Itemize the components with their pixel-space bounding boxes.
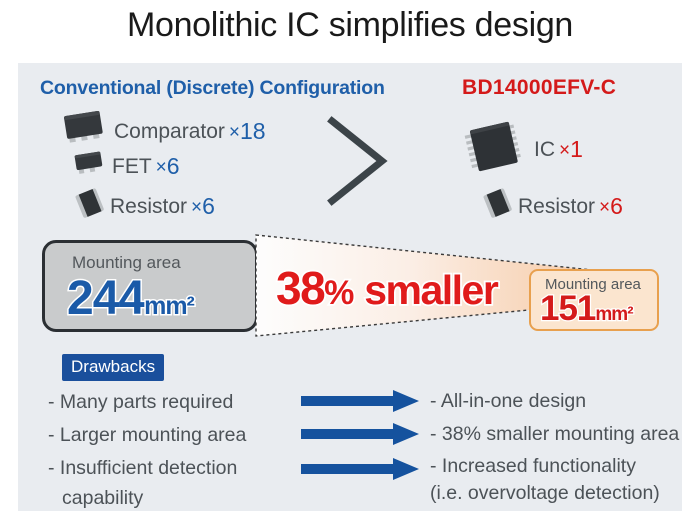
list-item-comparator: Comparator ×18: [58, 109, 266, 154]
benefit-item-1: - All-in-one design: [430, 390, 586, 413]
right-column-heading: BD14000EFV-C: [462, 76, 616, 100]
arrow-right-icon: [301, 390, 419, 417]
count-value: 1: [570, 136, 583, 162]
component-count: ×18: [229, 118, 266, 145]
multiply-symbol: ×: [191, 197, 202, 218]
reduction-number: 38: [276, 262, 324, 314]
component-count: ×6: [156, 153, 180, 180]
component-label: FET: [112, 155, 152, 179]
component-count: ×6: [191, 193, 215, 220]
ic-package-icon: [458, 118, 534, 181]
list-item-ic: IC ×1: [458, 118, 583, 181]
count-value: 6: [610, 193, 623, 219]
reduction-word: smaller: [364, 267, 497, 313]
area-number: 151: [540, 289, 595, 328]
benefit-item-2: - 38% smaller mounting area: [430, 423, 679, 446]
component-count: ×6: [599, 193, 623, 220]
mounting-area-label: Mounting area: [72, 253, 181, 273]
resistor-chip-icon: [478, 187, 518, 226]
multiply-symbol: ×: [229, 122, 240, 143]
count-value: 18: [240, 118, 266, 144]
multiply-symbol: ×: [559, 140, 570, 161]
area-unit: mm²: [595, 304, 632, 325]
drawback-item-1: - Many parts required: [48, 391, 233, 414]
drawback-item-2: - Larger mounting area: [48, 424, 246, 447]
page-title: Monolithic IC simplifies design: [0, 6, 700, 45]
mounting-area-box-conventional: Mounting area 244mm²: [42, 240, 258, 332]
multiply-symbol: ×: [599, 197, 610, 218]
count-value: 6: [167, 153, 180, 179]
mounting-area-value: 244mm²: [67, 271, 194, 326]
component-label: Comparator: [114, 120, 225, 144]
resistor-chip-icon: [70, 187, 110, 226]
drawback-item-3-cont: capability: [62, 487, 143, 510]
area-unit: mm²: [144, 292, 194, 320]
list-item-fet: FET ×6: [70, 149, 180, 184]
comparison-panel: Conventional (Discrete) Configuration BD…: [18, 63, 682, 511]
list-item-resistor-left: Resistor ×6: [70, 187, 215, 226]
arrow-right-icon: [301, 458, 419, 485]
list-item-resistor-right: Resistor ×6: [478, 187, 623, 226]
arrow-right-icon: [301, 423, 419, 450]
mounting-area-value: 151mm²: [540, 289, 633, 329]
drawbacks-badge: Drawbacks: [62, 354, 164, 381]
multiply-symbol: ×: [156, 157, 167, 178]
component-label: Resistor: [518, 195, 595, 219]
reduction-callout: 38% smaller: [276, 261, 497, 315]
percent-symbol: %: [324, 274, 353, 312]
mounting-area-box-ic: Mounting area 151mm²: [529, 269, 659, 331]
greater-than-chevron-icon: [318, 111, 398, 216]
component-label: IC: [534, 138, 555, 162]
component-count: ×1: [559, 136, 583, 163]
drawback-item-3: - Insufficient detection: [48, 457, 237, 480]
fet-chip-icon: [70, 149, 112, 184]
left-column-heading: Conventional (Discrete) Configuration: [40, 77, 385, 100]
benefit-item-3-cont: (i.e. overvoltage detection): [430, 482, 660, 505]
area-number: 244: [67, 272, 144, 325]
component-label: Resistor: [110, 195, 187, 219]
count-value: 6: [202, 193, 215, 219]
benefit-item-3: - Increased functionality: [430, 455, 636, 478]
comparator-chip-icon: [58, 109, 114, 154]
